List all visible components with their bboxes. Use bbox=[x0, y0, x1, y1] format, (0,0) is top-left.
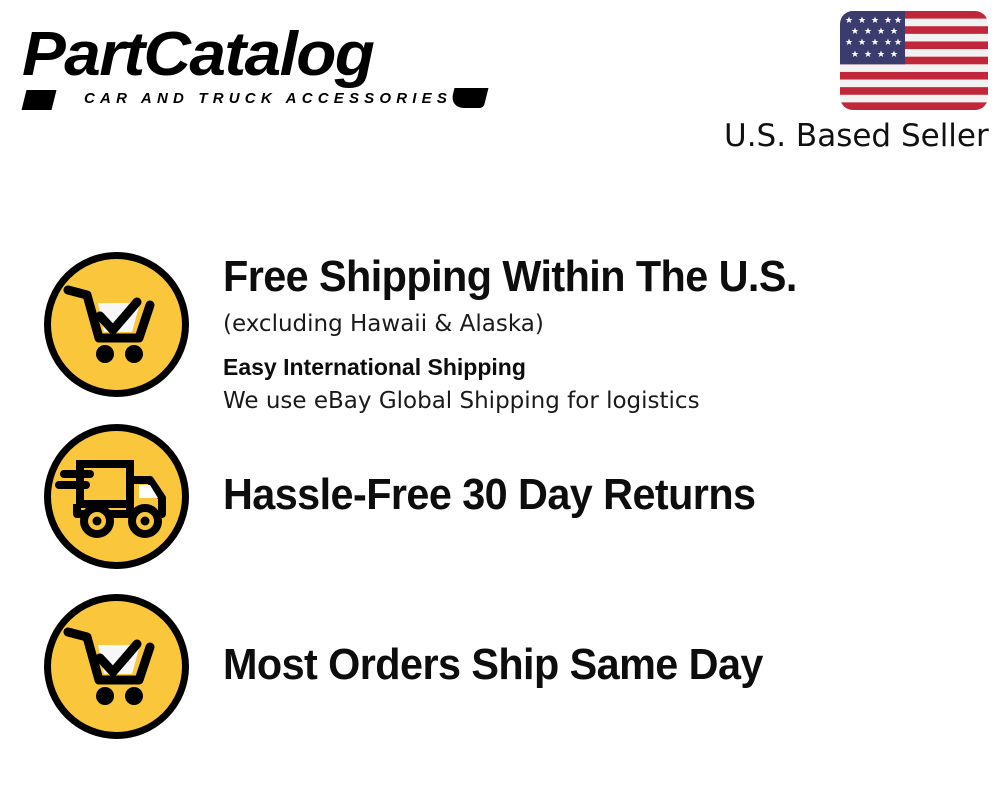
shopping-cart-check-icon bbox=[42, 250, 191, 399]
benefit-row: Free Shipping Within The U.S. (excluding… bbox=[42, 250, 942, 417]
logo-swash-left-icon bbox=[22, 90, 57, 110]
benefit-title: Hassle-Free 30 Day Returns bbox=[223, 470, 899, 520]
benefit-text-group: Most Orders Ship Same Day bbox=[191, 592, 942, 690]
benefit-text-group: Hassle-Free 30 Day Returns bbox=[191, 422, 942, 520]
logo-tagline: CAR AND TRUCK ACCESSORIES bbox=[84, 90, 452, 107]
benefit-row: Hassle-Free 30 Day Returns bbox=[42, 422, 942, 571]
benefit-title: Free Shipping Within The U.S. bbox=[223, 252, 899, 302]
page-header: PartCatalog CAR AND TRUCK ACCESSORIES bbox=[0, 0, 1000, 170]
delivery-truck-icon bbox=[42, 422, 191, 571]
benefit-strong-line: Easy International Shipping bbox=[223, 352, 942, 382]
benefit-subtitle: (excluding Hawaii & Alaska) bbox=[223, 308, 942, 340]
benefit-note: We use eBay Global Shipping for logistic… bbox=[223, 385, 942, 417]
benefit-row: Most Orders Ship Same Day bbox=[42, 592, 942, 741]
benefit-title: Most Orders Ship Same Day bbox=[223, 640, 899, 690]
benefit-text-group: Free Shipping Within The U.S. (excluding… bbox=[191, 250, 942, 417]
shopping-cart-check-icon bbox=[42, 592, 191, 741]
logo-wordmark: PartCatalog bbox=[22, 22, 520, 88]
us-based-seller-label: U.S. Based Seller bbox=[724, 118, 988, 154]
brand-logo[interactable]: PartCatalog CAR AND TRUCK ACCESSORIES bbox=[22, 22, 492, 117]
logo-tagline-row: CAR AND TRUCK ACCESSORIES bbox=[22, 90, 492, 112]
us-flag-icon bbox=[840, 11, 988, 110]
logo-swash-right-icon bbox=[450, 88, 489, 108]
